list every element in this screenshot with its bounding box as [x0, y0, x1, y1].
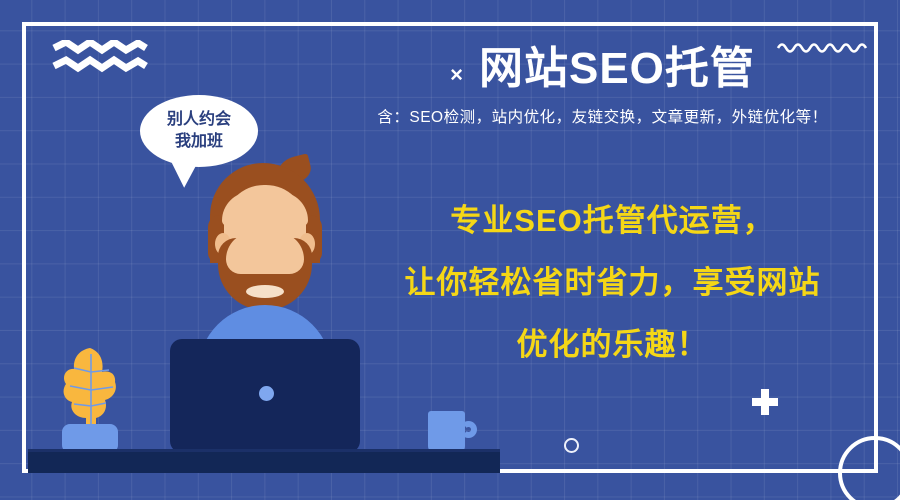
speech-bubble-line-1: 别人约会: [167, 109, 231, 131]
speech-bubble: 别人约会 我加班: [140, 95, 258, 167]
headline-block: × 网站SEO托管 含：SEO检测，站内优化，友链交换，文章更新，外链优化等！: [330, 44, 875, 127]
cross-mark-icon: ×: [450, 64, 463, 86]
mouth: [246, 285, 284, 298]
slogan-line-1: 专业SEO托管代运营，: [340, 190, 885, 252]
slogan-line-3: 优化的乐趣！: [340, 314, 885, 376]
slogan-block: 专业SEO托管代运营， 让你轻松省时省力，享受网站 优化的乐趣！: [340, 190, 885, 376]
subtitle: 含：SEO检测，站内优化，友链交换，文章更新，外链优化等！: [330, 105, 875, 127]
desk-surface: [28, 452, 500, 473]
page-title: 网站SEO托管: [479, 44, 755, 93]
cheeks: [226, 232, 304, 274]
laptop-logo-icon: [259, 386, 274, 401]
seo-hosting-banner: 别人约会 我加班 × 网站SEO托管 含：SEO检测，站内优化，友链交换，文章更…: [0, 0, 900, 500]
coffee-mug: [428, 411, 465, 453]
plant-leaf-icon: [60, 346, 122, 432]
speech-bubble-line-2: 我加班: [175, 131, 223, 153]
forehead: [222, 192, 308, 226]
slogan-line-2: 让你轻松省时省力，享受网站: [340, 252, 885, 314]
title-row: × 网站SEO托管: [330, 44, 875, 93]
